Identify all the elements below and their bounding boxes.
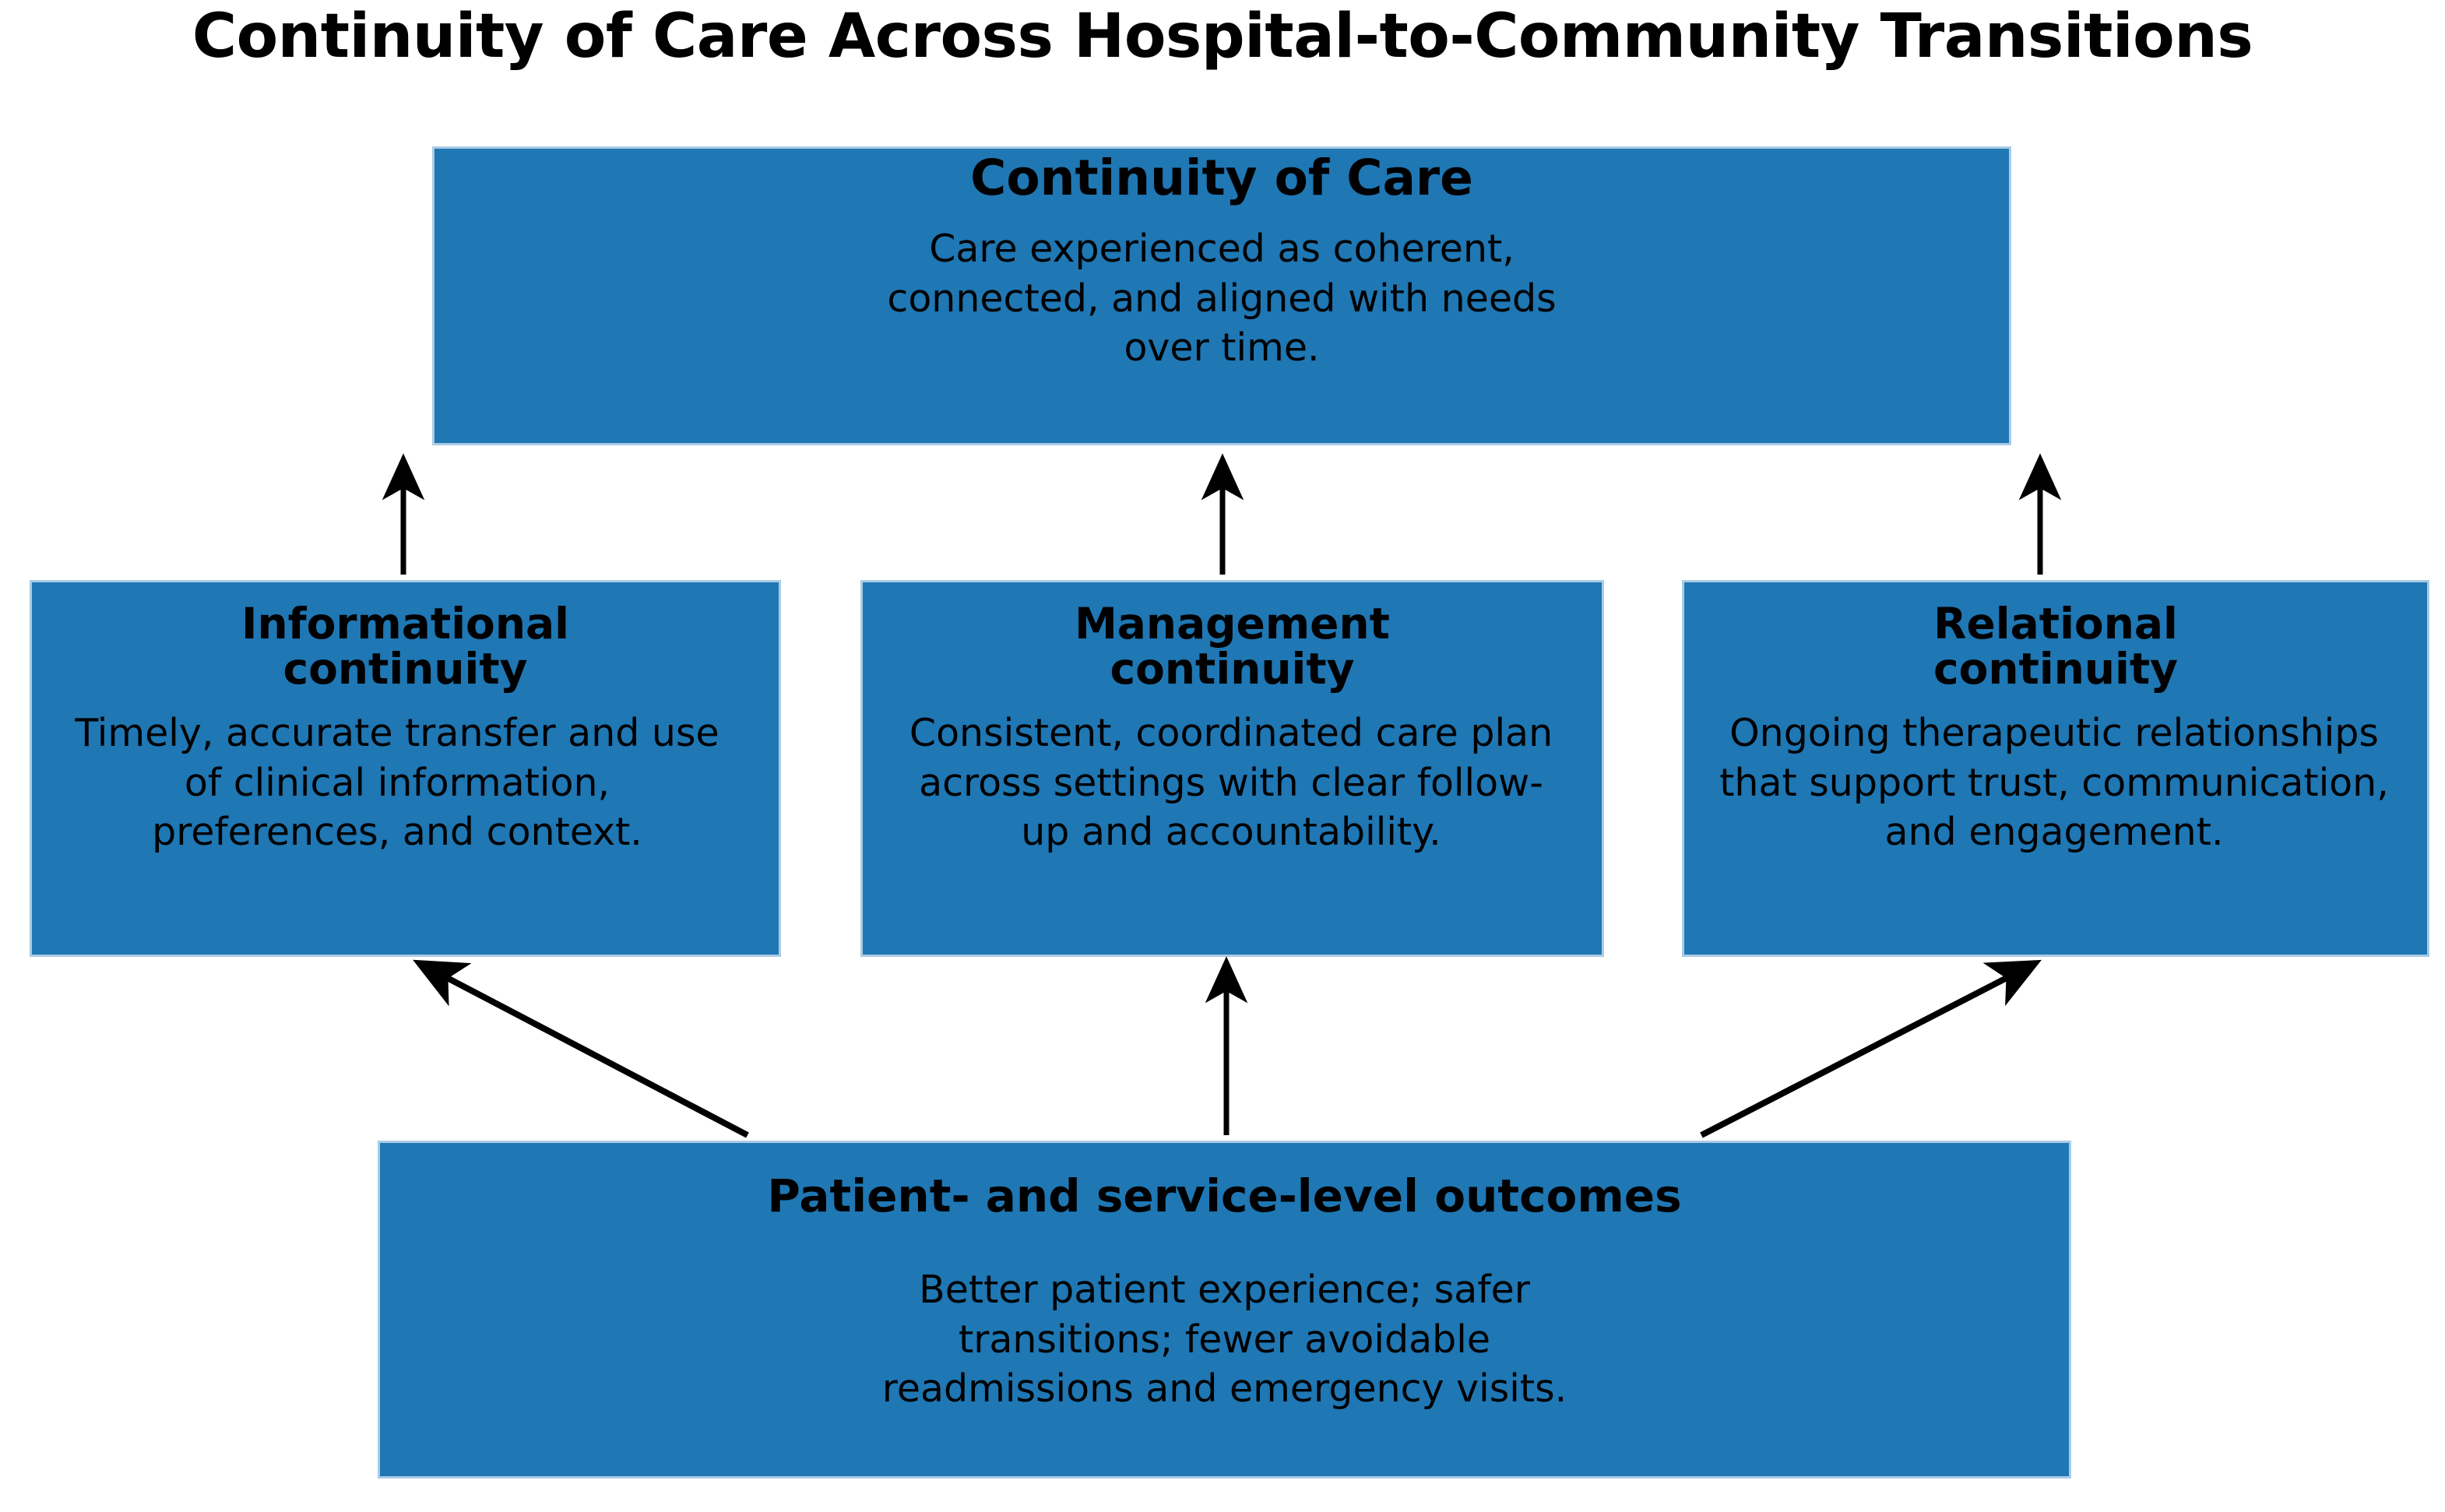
page-title: Continuity of Care Across Hospital-to-Co… (0, 6, 2445, 67)
node-management-continuity[interactable] (860, 580, 1604, 957)
node-patient-and-service-level-outcomes[interactable] (378, 1141, 2071, 1479)
arrow-outcomes-to-informational (420, 964, 748, 1135)
diagram-canvas: Continuity of Care Across Hospital-to-Co… (0, 0, 2445, 1512)
arrow-outcomes-to-relational (1701, 964, 2034, 1135)
node-informational-continuity[interactable] (30, 580, 781, 957)
node-continuity-of-care[interactable] (432, 146, 2011, 445)
node-relational-continuity[interactable] (1682, 580, 2429, 957)
